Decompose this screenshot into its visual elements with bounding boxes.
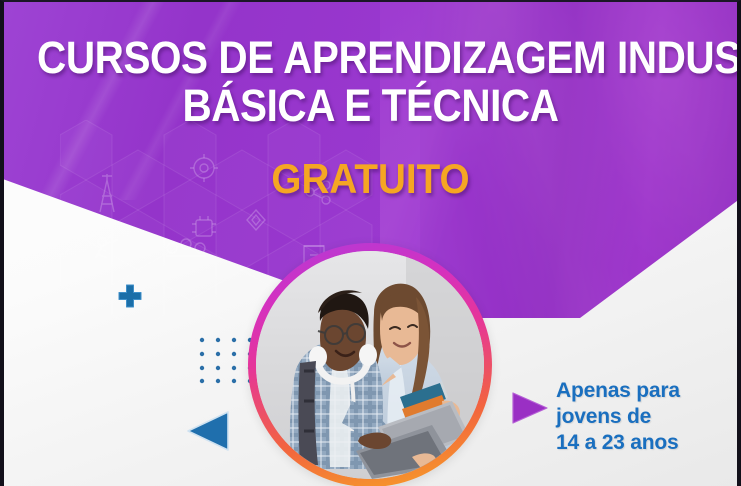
- highlight-gratuito: GRATUITO: [30, 156, 712, 202]
- callout-line-2: jovens de: [556, 404, 734, 430]
- triangle-right-icon: [511, 391, 549, 425]
- callout-line-3: 14 a 23 anos: [556, 430, 734, 456]
- triangle-left-icon: [186, 410, 230, 452]
- banner-headline: CURSOS DE APRENDIZAGEM INDUSTRIAL BÁSICA…: [37, 34, 704, 130]
- headline-line-1: CURSOS DE APRENDIZAGEM INDUSTRIAL: [37, 34, 704, 82]
- student-photo-ring: [248, 243, 492, 486]
- promotional-banner: CURSOS DE APRENDIZAGEM INDUSTRIAL BÁSICA…: [0, 0, 741, 486]
- callout-line-1: Apenas para: [556, 378, 734, 404]
- plus-mark-icon: [118, 284, 142, 308]
- headline-line-2: BÁSICA E TÉCNICA: [37, 82, 704, 130]
- student-photo: [256, 251, 484, 479]
- dot-grid-decoration: [198, 336, 254, 384]
- age-callout: Apenas para jovens de 14 a 23 anos: [556, 378, 734, 456]
